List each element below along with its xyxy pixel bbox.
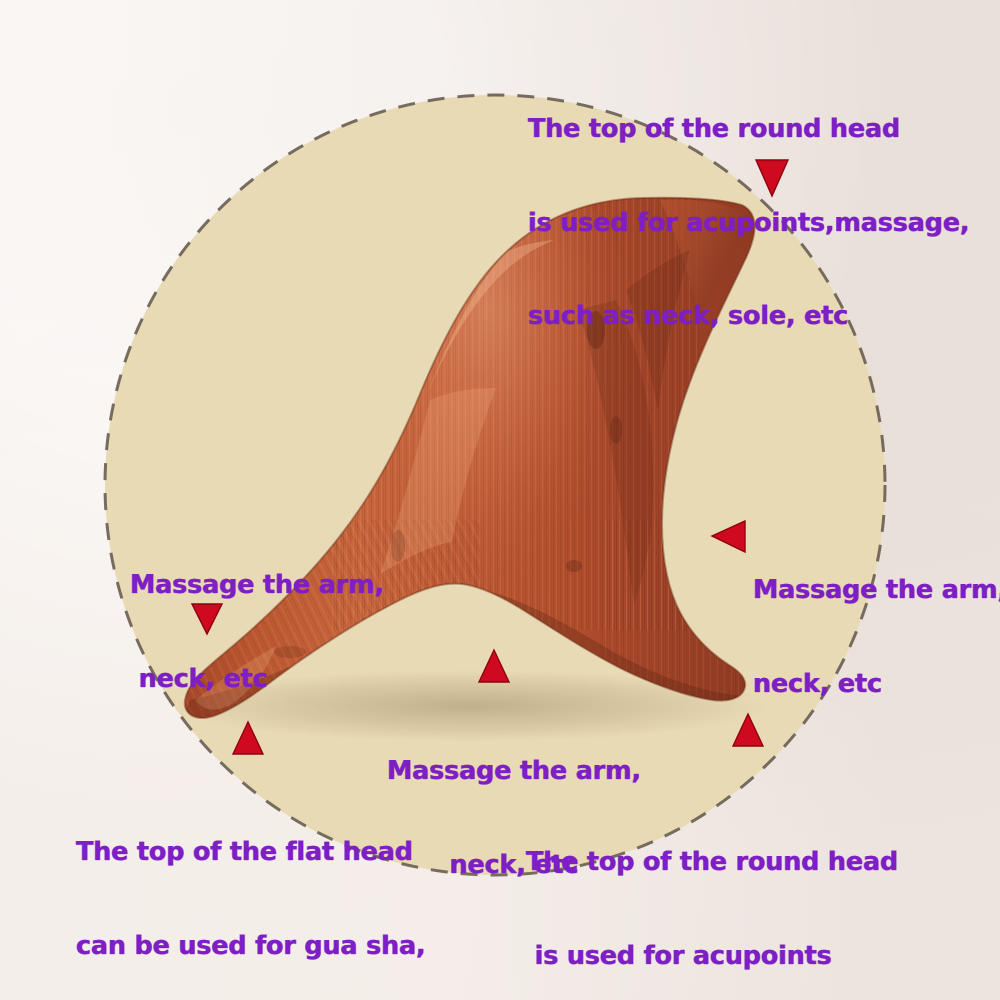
- infographic-canvas: The top of the round head is used for ac…: [0, 0, 1000, 1000]
- callout-bl-line-1: The top of the flat head: [76, 837, 472, 868]
- callout-top-line-1: The top of the round head: [528, 114, 969, 145]
- callout-top-line-3: such as neck, sole, etc: [528, 301, 969, 332]
- callout-right-line-1: Massage the arm,: [753, 575, 1000, 606]
- callout-left-arm-neck: Massage the arm, neck, etc: [130, 508, 384, 757]
- callout-top-round-head: The top of the round head is used for ac…: [528, 52, 969, 394]
- callout-left-line-2: neck, etc: [130, 664, 384, 695]
- callout-right-line-2: neck, etc: [753, 669, 1000, 700]
- callout-br-line-2: is used for acupoints: [526, 941, 1000, 972]
- callout-br-line-1: The top of the round head: [526, 847, 1000, 878]
- callout-bl-line-2: can be used for gua sha,: [76, 931, 472, 962]
- callout-left-line-1: Massage the arm,: [130, 570, 384, 601]
- callout-bottom-left-flat-head: The top of the flat head can be used for…: [76, 775, 472, 1000]
- callout-bottom-right-round-head: The top of the round head is used for ac…: [526, 785, 1000, 1000]
- callout-top-line-2: is used for acupoints,massage,: [528, 208, 969, 239]
- callout-right-arm-neck: Massage the arm, neck, etc: [753, 513, 1000, 762]
